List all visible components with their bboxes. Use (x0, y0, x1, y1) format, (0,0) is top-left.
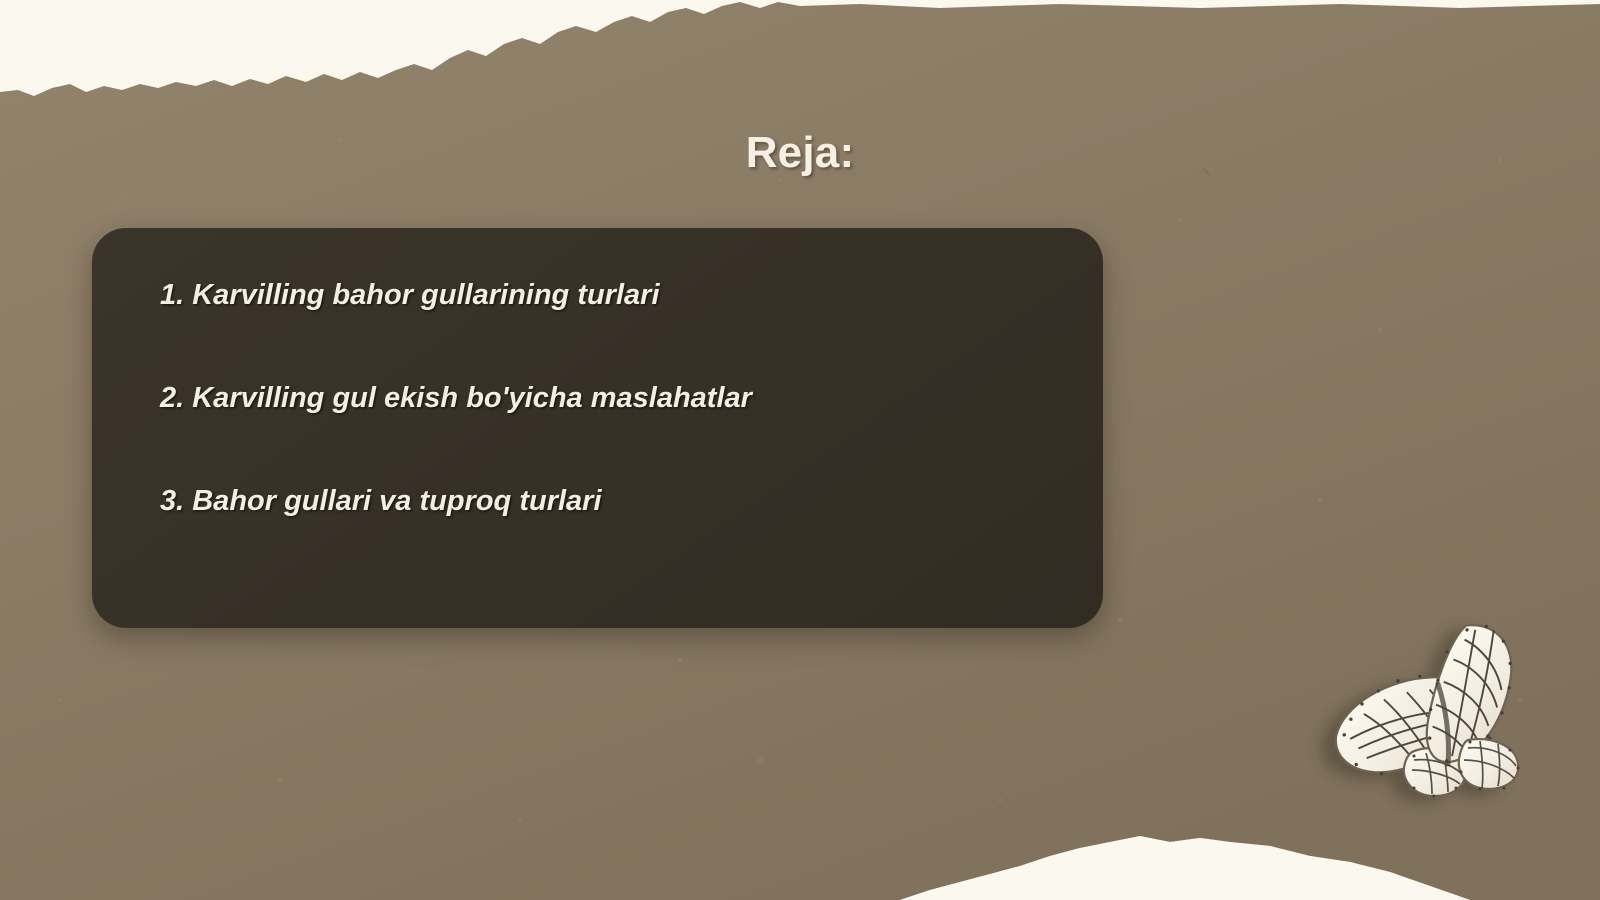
content-panel: 1. Karvilling bahor gullarining turlari … (92, 228, 1103, 628)
slide-canvas: Reja: 1. Karvilling bahor gullarining tu… (0, 0, 1600, 900)
list-item: 2. Karvilling gul ekish bo'yicha maslaha… (160, 381, 1063, 416)
list-item: 1. Karvilling bahor gullarining turlari (160, 278, 1063, 313)
agenda-list: 1. Karvilling bahor gullarining turlari … (160, 278, 1063, 518)
page-title: Reja: (0, 128, 1600, 178)
list-item: 3. Bahor gullari va tuproq turlari (160, 484, 1063, 519)
butterfly-icon (1300, 612, 1530, 822)
